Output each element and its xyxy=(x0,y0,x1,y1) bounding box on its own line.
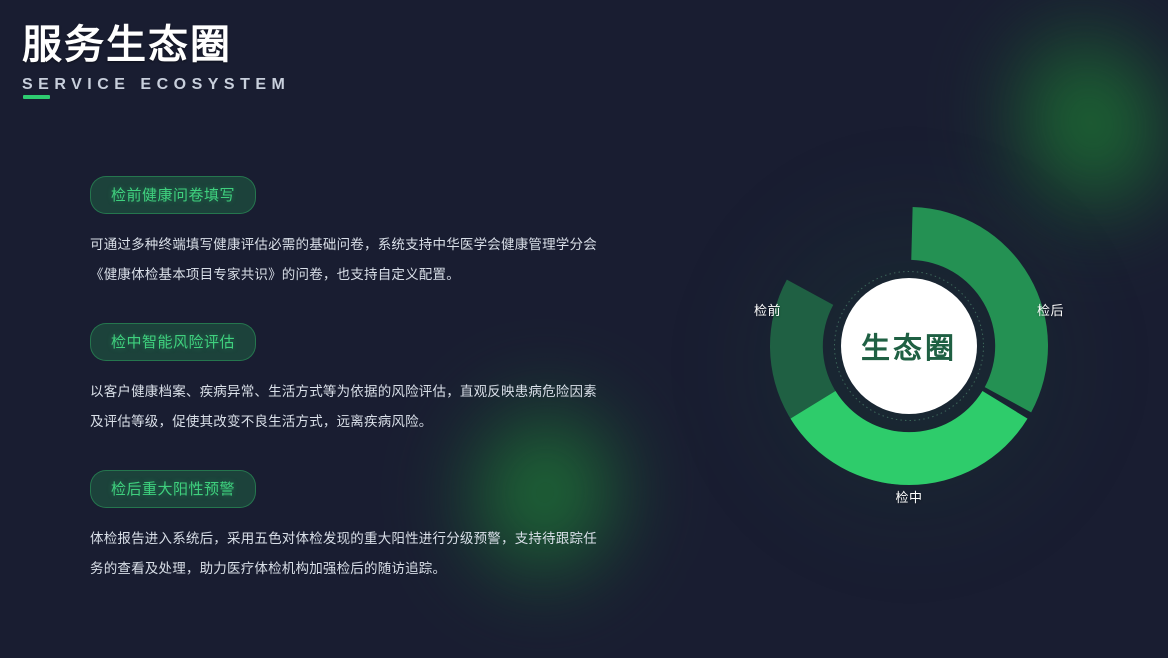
feature-desc-pre-exam: 可通过多种终端填写健康评估必需的基础问卷，系统支持中华医学会健康管理学分会《健康… xyxy=(90,230,602,290)
feature-tag-in-exam[interactable]: 检中智能风险评估 xyxy=(90,323,256,361)
donut-label-in-exam: 检中 xyxy=(895,487,922,506)
donut-label-pre-exam: 检前 xyxy=(754,300,781,319)
page-header: 服务生态圈 SERVICE ECOSYSTEM xyxy=(22,22,290,94)
accent-underline xyxy=(23,95,50,99)
donut-label-post-exam: 检后 xyxy=(1037,300,1064,319)
feature-block: 检中智能风险评估 以客户健康档案、疾病异常、生活方式等为依据的风险评估，直观反映… xyxy=(90,323,610,437)
page-subtitle-wrap: SERVICE ECOSYSTEM xyxy=(22,76,290,94)
feature-tag-pre-exam[interactable]: 检前健康问卷填写 xyxy=(90,176,256,214)
page-title: 服务生态圈 xyxy=(22,22,290,68)
feature-block: 检前健康问卷填写 可通过多种终端填写健康评估必需的基础问卷，系统支持中华医学会健… xyxy=(90,176,610,290)
donut-center-label: 生态圈 xyxy=(770,325,1048,367)
feature-desc-post-exam: 体检报告进入系统后，采用五色对体检发现的重大阳性进行分级预警，支持待跟踪任务的查… xyxy=(90,524,602,584)
feature-desc-in-exam: 以客户健康档案、疾病异常、生活方式等为依据的风险评估，直观反映患病危险因素及评估… xyxy=(90,377,602,437)
page-subtitle: SERVICE ECOSYSTEM xyxy=(22,76,290,94)
feature-tag-post-exam[interactable]: 检后重大阳性预警 xyxy=(90,470,256,508)
ecosystem-donut-chart: 生态圈 检前 检后 检中 xyxy=(770,207,1048,485)
feature-list: 检前健康问卷填写 可通过多种终端填写健康评估必需的基础问卷，系统支持中华医学会健… xyxy=(90,176,610,584)
feature-block: 检后重大阳性预警 体检报告进入系统后，采用五色对体检发现的重大阳性进行分级预警，… xyxy=(90,470,610,584)
